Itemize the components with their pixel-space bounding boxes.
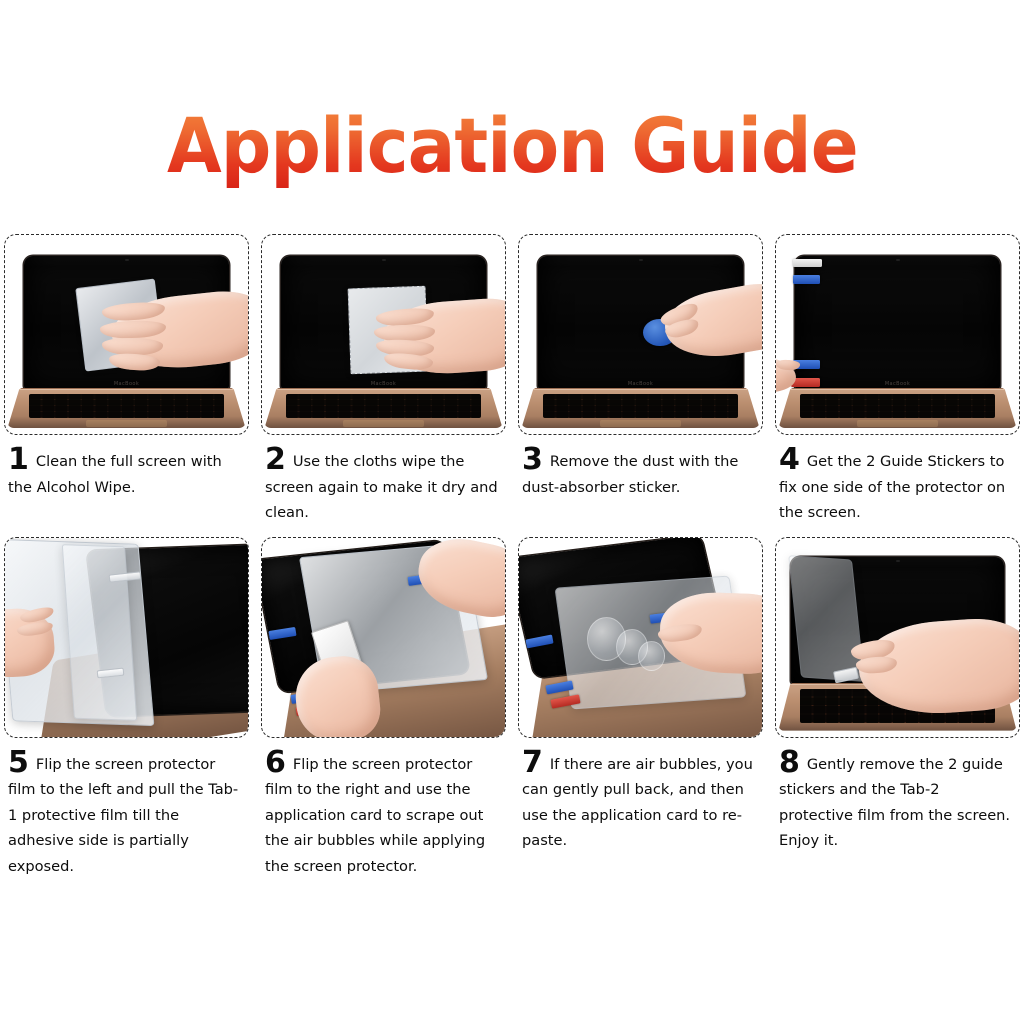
step-image-8	[775, 537, 1020, 738]
step-text-8: Gently remove the 2 guide stickers and t…	[779, 756, 1010, 850]
step-image-2: MacBook	[261, 234, 506, 435]
step-text-2: Use the cloths wipe the screen again to …	[265, 453, 498, 521]
laptop-base	[264, 389, 502, 428]
step-text-4: Get the 2 Guide Stickers to fix one side…	[779, 453, 1005, 521]
webcam-icon	[896, 560, 900, 562]
step-caption-1: 1Clean the full screen with the Alcohol …	[4, 435, 249, 500]
step-card-4: MacBook 4G	[775, 234, 1020, 526]
step-caption-5: 5Flip the screen protector film to the l…	[4, 738, 249, 880]
tab-white	[793, 259, 822, 267]
laptop-logo: MacBook	[885, 381, 910, 387]
laptop-trackpad	[86, 420, 167, 427]
step-card-1: MacBook 1C	[4, 234, 249, 526]
step-image-5	[4, 537, 249, 738]
steps-grid: MacBook 1C	[4, 234, 1020, 879]
step-text-5: Flip the screen protector film to the le…	[8, 756, 238, 875]
step-caption-6: 6Flip the screen protector film to the r…	[261, 738, 506, 880]
step-caption-3: 3Remove the dust with the dust-absorber …	[518, 435, 763, 500]
step-text-3: Remove the dust with the dust-absorber s…	[522, 453, 738, 496]
step-image-7	[518, 537, 763, 738]
step-number-4: 4	[779, 442, 800, 477]
guide-sticker-blue	[793, 275, 820, 284]
webcam-icon	[125, 259, 129, 261]
laptop-trackpad	[857, 420, 938, 427]
step-text-6: Flip the screen protector film to the ri…	[265, 756, 485, 875]
step-caption-4: 4Get the 2 Guide Stickers to fix one sid…	[775, 435, 1020, 526]
step-caption-2: 2Use the cloths wipe the screen again to…	[261, 435, 506, 526]
step-image-1: MacBook	[4, 234, 249, 435]
step-image-3: MacBook	[518, 234, 763, 435]
step-number-8: 8	[779, 745, 800, 780]
step-number-1: 1	[8, 442, 29, 477]
webcam-icon	[639, 259, 643, 261]
step-card-5: 5Flip the screen protector film to the l…	[4, 537, 249, 880]
laptop-illustration: MacBook	[776, 243, 1019, 430]
application-guide-page: Application Guide MacBook	[0, 0, 1024, 1024]
step-text-1: Clean the full screen with the Alcohol W…	[8, 453, 222, 496]
laptop-base	[521, 389, 759, 428]
laptop-trackpad	[343, 420, 424, 427]
step-card-7: 7If there are air bubbles, you can gentl…	[518, 537, 763, 880]
laptop-logo: MacBook	[371, 381, 396, 387]
laptop-trackpad	[600, 420, 681, 427]
laptop-keyboard	[286, 394, 481, 418]
laptop-keyboard	[29, 394, 224, 418]
step-number-5: 5	[8, 745, 29, 780]
webcam-icon	[382, 259, 386, 261]
step-image-4: MacBook	[775, 234, 1020, 435]
air-bubble	[638, 641, 665, 671]
step-number-7: 7	[522, 745, 543, 780]
step-card-2: MacBook 2U	[261, 234, 506, 526]
step-card-8: 8Gently remove the 2 guide stickers and …	[775, 537, 1020, 880]
step-card-6: 6Flip the screen protector film to the r…	[261, 537, 506, 880]
laptop-base	[7, 389, 245, 428]
laptop-logo: MacBook	[114, 381, 139, 387]
finger	[374, 324, 435, 341]
step-number-6: 6	[265, 745, 286, 780]
screen-protector-film	[62, 545, 138, 722]
step-caption-8: 8Gently remove the 2 guide stickers and …	[775, 738, 1020, 854]
page-title: Application Guide	[167, 103, 858, 189]
laptop-base	[778, 389, 1016, 428]
step-caption-7: 7If there are air bubbles, you can gentl…	[518, 738, 763, 854]
webcam-icon	[896, 259, 900, 261]
laptop-keyboard	[800, 394, 995, 418]
step-number-3: 3	[522, 442, 543, 477]
step-image-6	[261, 537, 506, 738]
laptop-screen: MacBook	[795, 256, 999, 389]
laptop-keyboard	[543, 394, 738, 418]
step-number-2: 2	[265, 442, 286, 477]
page-title-container: Application Guide	[0, 103, 1024, 189]
step-card-3: MacBook 3Remove the dust with th	[518, 234, 763, 526]
laptop-logo: MacBook	[628, 381, 653, 387]
step-text-7: If there are air bubbles, you can gently…	[522, 756, 753, 850]
